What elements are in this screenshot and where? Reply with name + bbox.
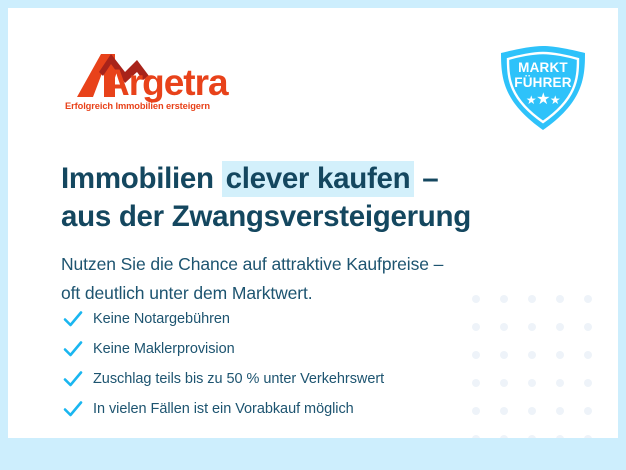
dot bbox=[472, 435, 480, 438]
list-item-label: Keine Notargebühren bbox=[93, 311, 230, 327]
check-icon bbox=[62, 398, 84, 420]
dot bbox=[528, 435, 536, 438]
headline-line2: aus der Zwangsversteigerung bbox=[61, 200, 471, 233]
svg-text:Argetra: Argetra bbox=[103, 62, 229, 103]
list-item-label: In vielen Fällen ist ein Vorabkauf mögli… bbox=[93, 401, 354, 417]
headline-line1-after: – bbox=[414, 162, 438, 195]
list-item: Keine Notargebühren bbox=[62, 304, 532, 334]
list-item-label: Zuschlag teils bis zu 50 % unter Verkehr… bbox=[93, 371, 384, 387]
dot bbox=[584, 323, 592, 331]
shield-icon bbox=[495, 44, 591, 132]
dot bbox=[584, 379, 592, 387]
check-icon bbox=[62, 338, 84, 360]
dot bbox=[556, 407, 564, 415]
benefits-list: Keine Notargebühren Keine Maklerprovisio… bbox=[62, 304, 532, 424]
dot bbox=[556, 435, 564, 438]
list-item-label: Keine Maklerprovision bbox=[93, 341, 235, 357]
dot bbox=[556, 323, 564, 331]
list-item: Zuschlag teils bis zu 50 % unter Verkehr… bbox=[62, 364, 532, 394]
list-item: Keine Maklerprovision bbox=[62, 334, 532, 364]
argetra-logo[interactable]: Argetra Erfolgreich Immobilien ersteiger… bbox=[63, 50, 263, 116]
headline-highlight: clever kaufen bbox=[222, 161, 415, 197]
subtitle-line2: oft deutlich unter dem Marktwert. bbox=[61, 283, 313, 303]
subtitle-line1: Nutzen Sie die Chance auf attraktive Kau… bbox=[61, 254, 443, 274]
page-title: Immobilien clever kaufen – aus der Zwang… bbox=[61, 160, 541, 236]
page-subtitle: Nutzen Sie die Chance auf attraktive Kau… bbox=[61, 250, 561, 308]
logo-tagline: Erfolgreich Immobilien ersteigern bbox=[65, 101, 210, 111]
dot bbox=[584, 435, 592, 438]
dot bbox=[500, 435, 508, 438]
list-item: In vielen Fällen ist ein Vorabkauf mögli… bbox=[62, 394, 532, 424]
market-leader-badge: MARKT FÜHRER ★★★ bbox=[495, 44, 591, 132]
dot bbox=[584, 295, 592, 303]
dot bbox=[584, 351, 592, 359]
dot bbox=[556, 379, 564, 387]
promo-banner: Argetra Erfolgreich Immobilien ersteiger… bbox=[0, 0, 626, 470]
banner-canvas: Argetra Erfolgreich Immobilien ersteiger… bbox=[8, 8, 618, 438]
dot bbox=[584, 407, 592, 415]
dot bbox=[556, 351, 564, 359]
headline-line1-before: Immobilien bbox=[61, 162, 222, 195]
check-icon bbox=[62, 368, 84, 390]
check-icon bbox=[62, 308, 84, 330]
